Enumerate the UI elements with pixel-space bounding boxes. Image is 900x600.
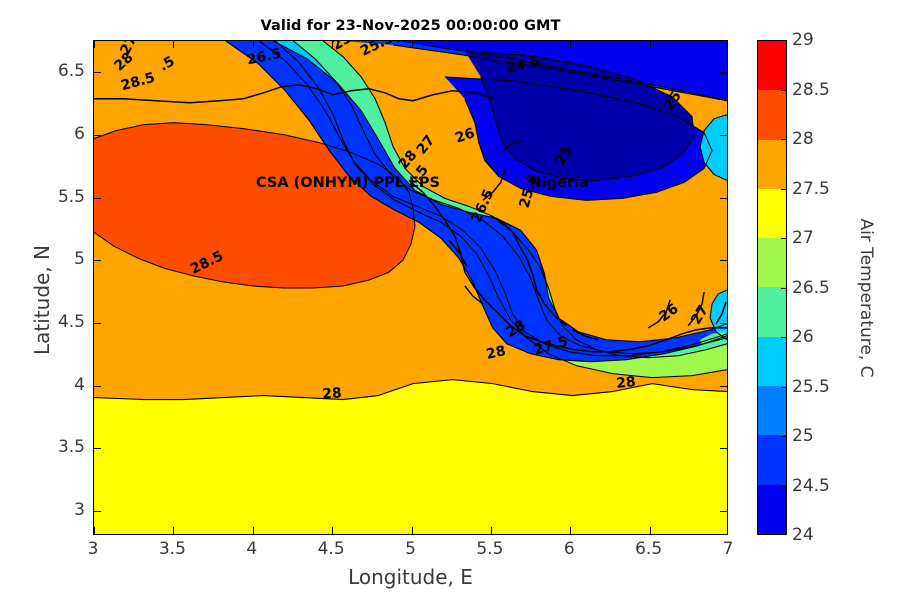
x-tick-top (94, 527, 95, 534)
contour-field (94, 41, 727, 534)
colorbar-tick (781, 436, 787, 437)
x-tick-top (173, 527, 174, 534)
colorbar-tick (781, 288, 787, 289)
y-tick-right (720, 386, 727, 387)
map-place-label: Nigeria (530, 175, 589, 191)
x-tick (94, 41, 95, 48)
x-tick (173, 41, 174, 48)
y-tick-label: 4 (74, 375, 85, 395)
colorbar-tick-label: 27.5 (792, 179, 830, 199)
y-tick-label: 6.5 (58, 61, 85, 81)
colorbar-tick (781, 238, 787, 239)
colorbar-band (758, 189, 786, 238)
colorbar-tick (781, 387, 787, 388)
colorbar-tick (781, 337, 787, 338)
x-tick-top (253, 527, 254, 534)
colorbar-band (758, 435, 786, 484)
x-tick-top (650, 527, 651, 534)
y-tick (94, 448, 101, 449)
x-axis-title: Longitude, E (93, 565, 728, 589)
y-tick-label: 5 (74, 249, 85, 269)
y-tick-label: 3 (74, 500, 85, 520)
x-tick-label: 4 (246, 539, 257, 559)
x-tick (570, 41, 571, 48)
y-tick-right (720, 135, 727, 136)
x-tick-label: 5 (405, 539, 416, 559)
colorbar-tick (781, 486, 787, 487)
colorbar-tick-label: 28 (792, 129, 814, 149)
y-tick (94, 135, 101, 136)
colorbar-tick-label: 28.5 (792, 80, 830, 100)
y-tick-label: 4.5 (58, 312, 85, 332)
colorbar-band (758, 287, 786, 336)
colorbar-band (758, 41, 786, 90)
x-tick (650, 41, 651, 48)
colorbar-band (758, 238, 786, 287)
y-tick (94, 511, 101, 512)
x-tick-label: 3 (88, 539, 99, 559)
y-tick (94, 386, 101, 387)
x-tick-label: 4.5 (318, 539, 345, 559)
colorbar-band (758, 90, 786, 139)
colorbar-band (758, 140, 786, 189)
colorbar-band (758, 386, 786, 435)
y-tick (94, 198, 101, 199)
y-tick-right (720, 323, 727, 324)
x-tick (332, 41, 333, 48)
colorbar-tick-label: 25.5 (792, 377, 830, 397)
colorbar-band (758, 485, 786, 534)
y-tick-right (720, 198, 727, 199)
colorbar-tick-label: 24 (792, 525, 814, 545)
y-tick-right (720, 72, 727, 73)
colorbar-tick-label: 25 (792, 426, 814, 446)
map-place-label: CSA (ONHYM) PPL EPS (256, 175, 440, 191)
x-tick (253, 41, 254, 48)
x-tick-top (491, 527, 492, 534)
colorbar-band (758, 337, 786, 386)
colorbar-tick (781, 189, 787, 190)
contour-label: 28 (322, 386, 343, 403)
colorbar-tick-label: 29 (792, 30, 814, 50)
x-tick-label: 5.5 (476, 539, 503, 559)
colorbar-tick (781, 139, 787, 140)
colorbar-tick-label: 26 (792, 327, 814, 347)
y-tick-label: 6 (74, 124, 85, 144)
y-tick-label: 5.5 (58, 187, 85, 207)
contour-label: 28 (615, 374, 636, 392)
colorbar-tick-label: 27 (792, 228, 814, 248)
colorbar-tick (781, 90, 787, 91)
y-tick (94, 323, 101, 324)
y-tick-right (720, 260, 727, 261)
x-tick-top (332, 527, 333, 534)
x-tick (412, 41, 413, 48)
colorbar-tick-label: 26.5 (792, 278, 830, 298)
x-tick-label: 6 (564, 539, 575, 559)
colorbar-tick-label: 24.5 (792, 476, 830, 496)
y-tick-right (720, 448, 727, 449)
contour-plot-area: 2728.528.526.525.52524.52526252728.525.5… (93, 40, 728, 535)
x-tick-label: 3.5 (159, 539, 186, 559)
y-tick-right (720, 511, 727, 512)
x-tick-top (412, 527, 413, 534)
x-tick-label: 6.5 (635, 539, 662, 559)
y-axis-title: Latitude, N (30, 200, 54, 400)
x-tick (491, 41, 492, 48)
x-tick-top (570, 527, 571, 534)
page-title: Valid for 23-Nov-2025 00:00:00 GMT (93, 18, 728, 34)
colorbar-title: Air Temperature, C (856, 178, 876, 418)
y-tick-label: 3.5 (58, 437, 85, 457)
x-tick-label: 7 (723, 539, 734, 559)
y-tick (94, 260, 101, 261)
y-tick (94, 72, 101, 73)
